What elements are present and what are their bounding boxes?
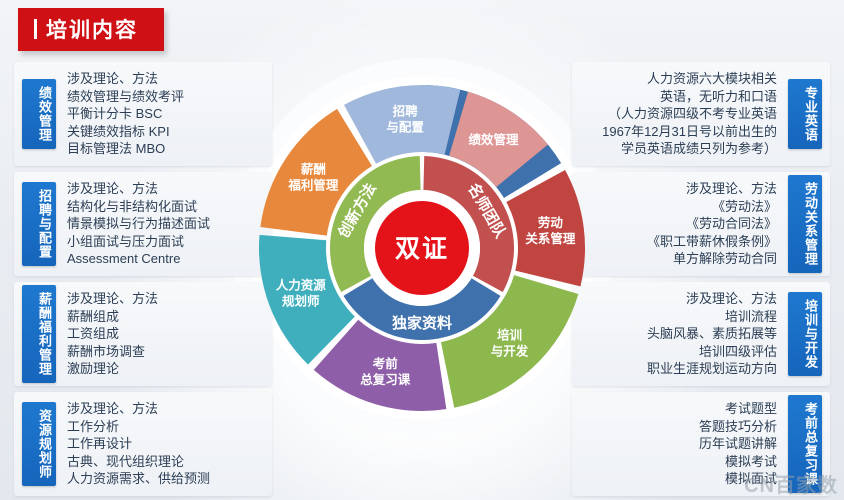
topic-tab-label: 劳动关系管理 <box>788 175 822 273</box>
topic-detail-line: 人力资源需求、供给预测 <box>67 470 264 488</box>
topic-detail-line: 人力资源六大模块相关 <box>580 70 777 88</box>
topic-detail-line: 历年试题讲解 <box>580 435 777 453</box>
page-title-banner: 培训内容 <box>18 8 164 51</box>
topic-card-performance[interactable]: 绩效管理 涉及理论、方法绩效管理与绩效考评平衡计分卡 BSC关键绩效指标 KPI… <box>14 62 272 166</box>
topic-detail-line: 《职工带薪休假条例》 <box>580 233 777 251</box>
topic-tab-label: 绩效管理 <box>22 79 56 149</box>
topic-tab-label: 培训与开发 <box>788 292 822 376</box>
slide-canvas: 培训内容 绩效管理 涉及理论、方法绩效管理与绩效考评平衡计分卡 BSC关键绩效指… <box>0 0 844 500</box>
topic-detail-line: 结构化与非结构化面试 <box>67 198 264 216</box>
topic-tab-label: 专业英语 <box>788 79 822 149</box>
page-title: 培训内容 <box>46 14 138 44</box>
topic-card-labor-relations[interactable]: 劳动关系管理 涉及理论、方法《劳动法》《劳动合同法》《职工带薪休假条例》单方解除… <box>572 172 830 276</box>
topic-detail-line: 关键绩效指标 KPI <box>67 123 264 141</box>
topic-detail-line: 平衡计分卡 BSC <box>67 105 264 123</box>
topic-card-professional-english[interactable]: 专业英语 人力资源六大模块相关英语，无听力和口语（人力资源四级不考专业英语196… <box>572 62 830 166</box>
wheel-segment-label: 独家资料 <box>392 314 452 332</box>
topic-detail-line: 小组面试与压力面试 <box>67 233 264 251</box>
topic-detail-line: 模拟考试 <box>580 453 777 471</box>
topic-detail-list: 涉及理论、方法薪酬组成工资组成薪酬市场调查激励理论 <box>56 290 264 378</box>
topic-detail-line: 工作再设计 <box>67 435 264 453</box>
topic-detail-list: 涉及理论、方法工作分析工作再设计古典、现代组织理论人力资源需求、供给预测 <box>56 400 264 488</box>
topic-detail-line: 工资组成 <box>67 325 264 343</box>
wheel-segment-label: 绩效管理 <box>468 132 519 147</box>
topic-detail-line: 考试题型 <box>580 400 777 418</box>
topic-detail-line: 工作分析 <box>67 418 264 436</box>
topic-detail-line: 绩效管理与绩效考评 <box>67 88 264 106</box>
topic-detail-line: 头脑风暴、素质拓展等 <box>580 325 777 343</box>
topic-tab-label: 资源规划师 <box>22 402 56 486</box>
topic-detail-list: 涉及理论、方法培训流程头脑风暴、素质拓展等培训四级评估职业生涯规划运动方向 <box>580 290 788 378</box>
topic-tab-label: 考前总复习课 <box>788 395 822 493</box>
topic-detail-line: 《劳动法》 <box>580 198 777 216</box>
topic-detail-list: 涉及理论、方法《劳动法》《劳动合同法》《职工带薪休假条例》单方解除劳动合同 <box>580 180 788 268</box>
topic-detail-line: 职业生涯规划运动方向 <box>580 360 777 378</box>
topic-detail-list: 考试题型答题技巧分析历年试题讲解模拟考试模拟面试 <box>580 400 788 488</box>
topic-card-training-development[interactable]: 培训与开发 涉及理论、方法培训流程头脑风暴、素质拓展等培训四级评估职业生涯规划运… <box>572 282 830 386</box>
topic-detail-line: 培训流程 <box>580 308 777 326</box>
topic-detail-line: 涉及理论、方法 <box>67 400 264 418</box>
topic-tab-label: 招聘与配置 <box>22 182 56 266</box>
topic-tab-label: 薪酬福利管理 <box>22 285 56 383</box>
topic-detail-line: 培训四级评估 <box>580 343 777 361</box>
title-accent-bar <box>34 19 37 39</box>
topic-card-recruitment[interactable]: 招聘与配置 涉及理论、方法结构化与非结构化面试情景模拟与行为描述面试小组面试与压… <box>14 172 272 276</box>
topic-detail-line: Assessment Centre <box>67 250 264 268</box>
topic-detail-line: 1967年12月31日号以前出生的 <box>580 123 777 141</box>
training-content-wheel: 专业英语劳动关系管理培训与开发考前总复习课人力资源规划师薪酬福利管理招聘与配置绩… <box>252 78 592 418</box>
topic-detail-line: 薪酬组成 <box>67 308 264 326</box>
topic-detail-line: 涉及理论、方法 <box>67 70 264 88</box>
topic-card-compensation[interactable]: 薪酬福利管理 涉及理论、方法薪酬组成工资组成薪酬市场调查激励理论 <box>14 282 272 386</box>
topic-detail-line: 激励理论 <box>67 360 264 378</box>
topic-card-resource-planner[interactable]: 资源规划师 涉及理论、方法工作分析工作再设计古典、现代组织理论人力资源需求、供给… <box>14 392 272 496</box>
topic-detail-line: 学员英语成绩只列为参考） <box>580 140 777 158</box>
topic-detail-line: 目标管理法 MBO <box>67 140 264 158</box>
topic-detail-list: 人力资源六大模块相关英语，无听力和口语（人力资源四级不考专业英语1967年12月… <box>580 70 788 158</box>
topic-detail-line: 古典、现代组织理论 <box>67 453 264 471</box>
topic-detail-line: 模拟面试 <box>580 470 777 488</box>
topic-detail-line: （人力资源四级不考专业英语 <box>580 105 777 123</box>
topic-detail-line: 涉及理论、方法 <box>67 290 264 308</box>
core-label: 双证 <box>395 235 449 263</box>
topic-detail-line: 涉及理论、方法 <box>580 290 777 308</box>
topic-detail-line: 涉及理论、方法 <box>580 180 777 198</box>
topic-detail-line: 英语，无听力和口语 <box>580 88 777 106</box>
topic-detail-line: 答题技巧分析 <box>580 418 777 436</box>
topic-detail-line: 薪酬市场调查 <box>67 343 264 361</box>
topic-detail-list: 涉及理论、方法绩效管理与绩效考评平衡计分卡 BSC关键绩效指标 KPI目标管理法… <box>56 70 264 158</box>
topic-detail-line: 《劳动合同法》 <box>580 215 777 233</box>
topic-card-exam-review[interactable]: 考前总复习课 考试题型答题技巧分析历年试题讲解模拟考试模拟面试 <box>572 392 830 496</box>
topic-detail-line: 单方解除劳动合同 <box>580 250 777 268</box>
topic-detail-list: 涉及理论、方法结构化与非结构化面试情景模拟与行为描述面试小组面试与压力面试Ass… <box>56 180 264 268</box>
topic-detail-line: 涉及理论、方法 <box>67 180 264 198</box>
topic-detail-line: 情景模拟与行为描述面试 <box>67 215 264 233</box>
